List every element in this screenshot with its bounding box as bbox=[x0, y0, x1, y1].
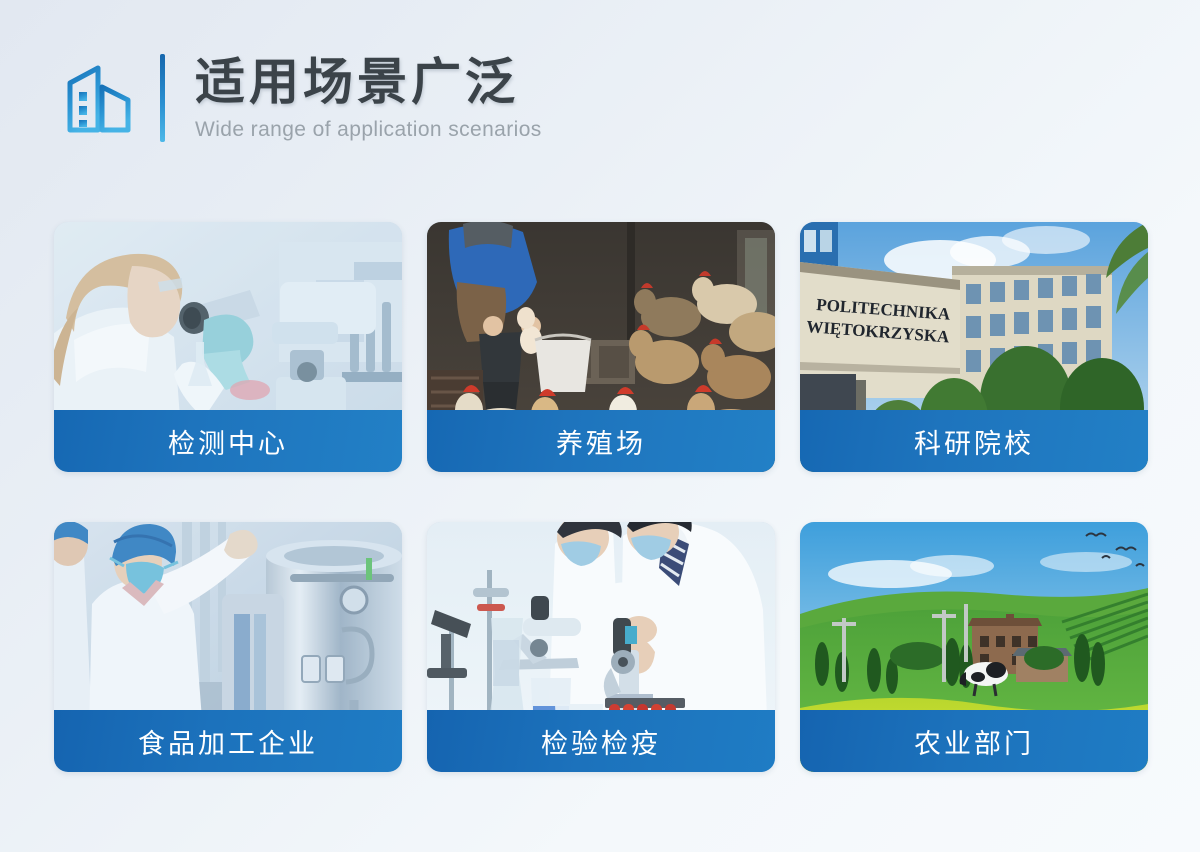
page-subtitle: Wide range of application scenarios bbox=[195, 118, 542, 142]
scenario-card[interactable]: 检测中心 bbox=[54, 222, 402, 472]
scenario-card-label: 养殖场 bbox=[427, 410, 775, 472]
scenario-card-label: 检测中心 bbox=[54, 410, 402, 472]
scenario-card-grid: 检测中心 bbox=[54, 222, 1148, 772]
page-title: 适用场景广泛 bbox=[195, 55, 542, 109]
header-title-block: 适用场景广泛 Wide range of application scenari… bbox=[195, 55, 542, 142]
scenario-card[interactable]: POLITECHNIKA WIĘTOKRZYSKA bbox=[800, 222, 1148, 472]
scenario-card-label: 检验检疫 bbox=[427, 710, 775, 772]
header-divider bbox=[160, 54, 165, 142]
page-header: 适用场景广泛 Wide range of application scenari… bbox=[0, 0, 1200, 196]
building-icon bbox=[62, 60, 138, 136]
scenario-card[interactable]: 农业部门 bbox=[800, 522, 1148, 772]
scenario-card-label: 食品加工企业 bbox=[54, 710, 402, 772]
scenario-card[interactable]: 检验检疫 bbox=[427, 522, 775, 772]
scenario-card[interactable]: 食品加工企业 bbox=[54, 522, 402, 772]
scenario-card-label: 农业部门 bbox=[800, 710, 1148, 772]
scenario-card[interactable]: 养殖场 bbox=[427, 222, 775, 472]
scenario-card-label: 科研院校 bbox=[800, 410, 1148, 472]
